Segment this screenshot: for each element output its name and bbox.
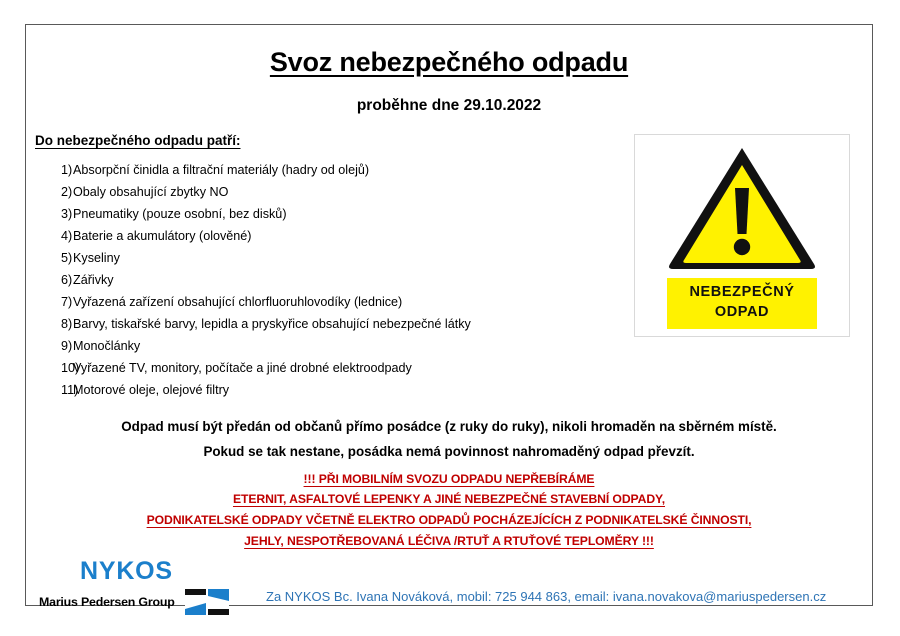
warning-line-3: PODNIKATELSKÉ ODPADY VČETNĚ ELEKTRO ODPA… — [26, 514, 872, 526]
list-item-label: Barvy, tiskařské barvy, lepidla a prysky… — [73, 318, 586, 331]
warning-line-4: JEHLY, NESPOTŘEBOVANÁ LÉČIVA /RTUŤ A RTU… — [26, 535, 872, 547]
list-item: 7) Vyřazená zařízení obsahující chlorflu… — [35, 296, 586, 318]
warning-line-1: !!! PŘI MOBILNÍM SVOZU ODPADU NEPŘEBÍRÁM… — [26, 473, 872, 485]
list-item: 8) Barvy, tiskařské barvy, lepidla a pry… — [35, 318, 586, 340]
hazard-sign-image: NEBEZPEČNÝ ODPAD — [634, 134, 850, 337]
list-item-number: 11) — [35, 384, 73, 397]
list-item-number: 8) — [35, 318, 73, 331]
list-item: 1) Absorpční činidla a filtrační materiá… — [35, 164, 586, 186]
list-item-label: Absorpční činidla a filtrační materiály … — [73, 164, 586, 177]
section-heading: Do nebezpečného odpadu patří: — [35, 133, 586, 148]
list-item-label: Vyřazené TV, monitory, počítače a jiné d… — [73, 362, 586, 375]
logo-wordmark: NYKOS — [39, 559, 239, 584]
list-item-label: Zářivky — [73, 274, 586, 287]
list-item-number: 4) — [35, 230, 73, 243]
hazard-sign-label: NEBEZPEČNÝ ODPAD — [667, 278, 817, 328]
list-item-label: Obaly obsahující zbytky NO — [73, 186, 586, 199]
list-item-number: 7) — [35, 296, 73, 309]
list-item: 5) Kyseliny — [35, 252, 586, 274]
list-item-label: Vyřazená zařízení obsahující chlorfluoru… — [73, 296, 586, 309]
list-item-number: 5) — [35, 252, 73, 265]
warning-triangle-icon — [667, 142, 817, 270]
footer: NYKOS Marius Pedersen Group Za NYKOS Bc.… — [26, 559, 872, 625]
red-warning-block: !!! PŘI MOBILNÍM SVOZU ODPADU NEPŘEBÍRÁM… — [26, 473, 872, 547]
list-item-number: 3) — [35, 208, 73, 221]
hazard-label-line2: ODPAD — [667, 303, 817, 323]
logo-subtitle-row: Marius Pedersen Group — [39, 589, 239, 615]
marius-pedersen-flag-icon — [185, 589, 229, 615]
list-item-label: Monočlánky — [73, 340, 586, 353]
logo-subtitle: Marius Pedersen Group — [39, 595, 175, 609]
list-item: 2) Obaly obsahující zbytky NO — [35, 186, 586, 208]
contact-line: Za NYKOS Bc. Ivana Nováková, mobil: 725 … — [266, 589, 826, 604]
list-item-number: 1) — [35, 164, 73, 177]
waste-section: Do nebezpečného odpadu patří: 1) Absorpč… — [26, 133, 586, 406]
hazard-label-line1: NEBEZPEČNÝ — [689, 284, 794, 300]
list-item-number: 10) — [35, 362, 73, 375]
notice-line-1: Odpad musí být předán od občanů přímo po… — [44, 420, 854, 433]
list-item: 4) Baterie a akumulátory (olověné) — [35, 230, 586, 252]
nykos-logo: NYKOS Marius Pedersen Group — [39, 559, 239, 615]
list-item-number: 2) — [35, 186, 73, 199]
body-area: NEBEZPEČNÝ ODPAD Do nebezpečného odpadu … — [26, 133, 872, 406]
list-item-label: Motorové oleje, olejové filtry — [73, 384, 586, 397]
hazard-sign-inner: NEBEZPEČNÝ ODPAD — [649, 142, 835, 328]
list-item-label: Baterie a akumulátory (olověné) — [73, 230, 586, 243]
page-title: Svoz nebezpečného odpadu — [26, 47, 872, 78]
list-item: 9) Monočlánky — [35, 340, 586, 362]
list-item: 6) Zářivky — [35, 274, 586, 296]
notice-line-2: Pokud se tak nestane, posádka nemá povin… — [44, 445, 854, 458]
list-item-label: Kyseliny — [73, 252, 586, 265]
list-item-number: 6) — [35, 274, 73, 287]
document-page: Svoz nebezpečného odpadu proběhne dne 29… — [25, 24, 873, 606]
warning-line-2: ETERNIT, ASFALTOVÉ LEPENKY A JINÉ NEBEZP… — [26, 493, 872, 505]
page-subtitle: proběhne dne 29.10.2022 — [26, 97, 872, 115]
waste-list: 1) Absorpční činidla a filtrační materiá… — [35, 164, 586, 406]
list-item-number: 9) — [35, 340, 73, 353]
handover-notice: Odpad musí být předán od občanů přímo po… — [26, 420, 872, 459]
list-item: 3) Pneumatiky (pouze osobní, bez disků) — [35, 208, 586, 230]
list-item: 10) Vyřazené TV, monitory, počítače a ji… — [35, 362, 586, 384]
list-item: 11) Motorové oleje, olejové filtry — [35, 384, 586, 406]
list-item-label: Pneumatiky (pouze osobní, bez disků) — [73, 208, 586, 221]
